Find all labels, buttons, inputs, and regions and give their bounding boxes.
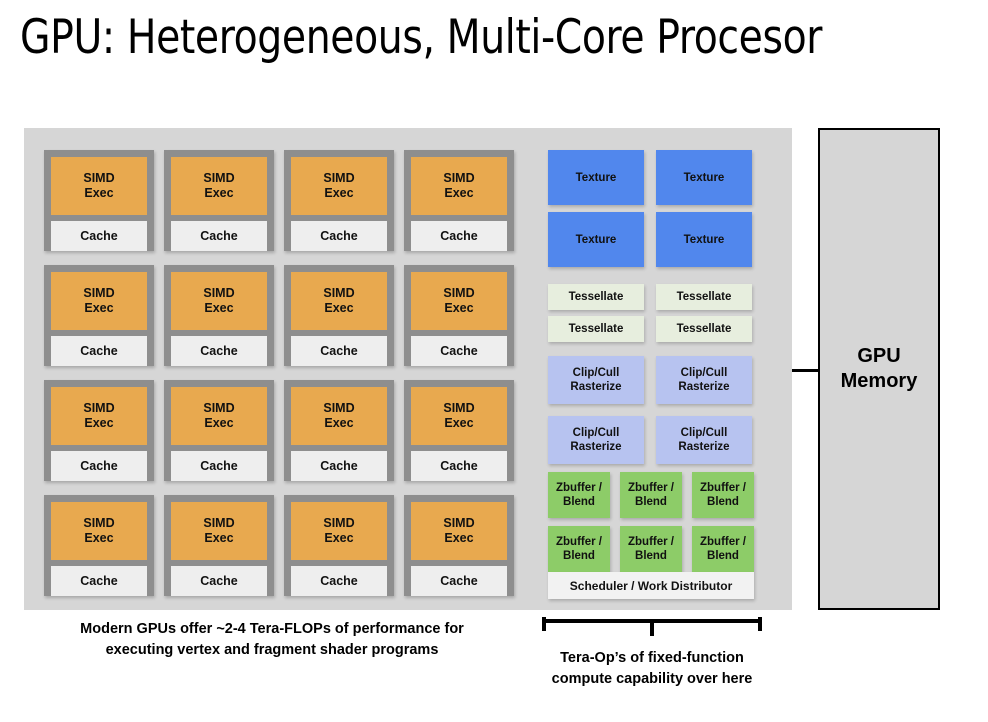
cache-unit: Cache xyxy=(411,221,507,251)
simd-core: SIMDExecCache xyxy=(44,495,154,596)
tessellate-unit-label-line1: Tessellate xyxy=(677,290,732,304)
cache-unit: Cache xyxy=(51,336,147,366)
zbuffer-blend-unit-label-line2: Blend xyxy=(707,549,739,563)
clip-cull-rasterize-unit-label-line2: Rasterize xyxy=(570,440,621,454)
simd-exec-unit: SIMDExec xyxy=(171,502,267,560)
simd-core: SIMDExecCache xyxy=(164,380,274,481)
simd-core: SIMDExecCache xyxy=(404,495,514,596)
texture-unit: Texture xyxy=(548,212,644,267)
simd-core: SIMDExecCache xyxy=(44,380,154,481)
texture-unit-label-line1: Texture xyxy=(684,233,725,247)
simd-core: SIMDExecCache xyxy=(44,265,154,366)
tessellate-unit: Tessellate xyxy=(656,284,752,310)
simd-exec-unit: SIMDExec xyxy=(171,157,267,215)
simd-exec-label-line1: SIMD xyxy=(83,401,114,416)
simd-exec-label-line1: SIMD xyxy=(203,516,234,531)
zbuffer-blend-unit: Zbuffer /Blend xyxy=(620,472,682,518)
tessellate-unit-label-line1: Tessellate xyxy=(569,322,624,336)
caption-left-line1: Modern GPUs offer ~2-4 Tera-FLOPs of per… xyxy=(24,619,520,640)
cache-unit: Cache xyxy=(171,451,267,481)
zbuffer-blend-unit: Zbuffer /Blend xyxy=(548,526,610,572)
simd-exec-label-line2: Exec xyxy=(204,531,233,546)
zbuffer-blend-unit-label-line1: Zbuffer / xyxy=(628,481,674,495)
caption-right-line1: Tera-Op’s of fixed-function xyxy=(520,648,784,669)
simd-exec-label-line2: Exec xyxy=(84,186,113,201)
simd-exec-label-line1: SIMD xyxy=(83,286,114,301)
bracket-center-stem xyxy=(650,622,654,636)
caption-right-line2: compute capability over here xyxy=(520,669,784,690)
texture-unit-label-line1: Texture xyxy=(576,171,617,185)
simd-exec-label-line2: Exec xyxy=(204,416,233,431)
simd-exec-label-line2: Exec xyxy=(444,186,473,201)
simd-core: SIMDExecCache xyxy=(284,150,394,251)
simd-exec-unit: SIMDExec xyxy=(171,272,267,330)
simd-core: SIMDExecCache xyxy=(284,495,394,596)
gpu-memory-label-line1: GPU xyxy=(857,344,900,369)
zbuffer-blend-unit-label-line1: Zbuffer / xyxy=(556,535,602,549)
zbuffer-blend-unit-label-line2: Blend xyxy=(635,549,667,563)
simd-exec-unit: SIMDExec xyxy=(171,387,267,445)
simd-exec-label-line2: Exec xyxy=(324,416,353,431)
simd-exec-label-line2: Exec xyxy=(324,301,353,316)
simd-exec-label-line2: Exec xyxy=(84,531,113,546)
cache-unit: Cache xyxy=(51,566,147,596)
zbuffer-blend-unit-label-line2: Blend xyxy=(563,549,595,563)
clip-cull-rasterize-unit: Clip/CullRasterize xyxy=(548,416,644,464)
caption-shader-performance: Modern GPUs offer ~2-4 Tera-FLOPs of per… xyxy=(24,619,520,661)
simd-exec-label-line2: Exec xyxy=(444,416,473,431)
simd-core: SIMDExecCache xyxy=(404,380,514,481)
simd-exec-label-line1: SIMD xyxy=(323,516,354,531)
simd-exec-label-line1: SIMD xyxy=(323,286,354,301)
simd-exec-label-line1: SIMD xyxy=(203,401,234,416)
simd-exec-unit: SIMDExec xyxy=(411,387,507,445)
simd-core: SIMDExecCache xyxy=(164,265,274,366)
clip-cull-rasterize-unit: Clip/CullRasterize xyxy=(548,356,644,404)
texture-unit-label-line1: Texture xyxy=(576,233,617,247)
simd-exec-label-line2: Exec xyxy=(84,416,113,431)
simd-core: SIMDExecCache xyxy=(164,495,274,596)
simd-exec-unit: SIMDExec xyxy=(51,272,147,330)
clip-cull-rasterize-unit-label-line1: Clip/Cull xyxy=(573,426,620,440)
zbuffer-blend-unit: Zbuffer /Blend xyxy=(548,472,610,518)
zbuffer-blend-unit: Zbuffer /Blend xyxy=(692,526,754,572)
simd-exec-unit: SIMDExec xyxy=(51,502,147,560)
zbuffer-blend-unit-label-line2: Blend xyxy=(635,495,667,509)
caption-fixed-function: Tera-Op’s of fixed-function compute capa… xyxy=(520,648,784,690)
texture-unit-label-line1: Texture xyxy=(684,171,725,185)
simd-exec-label-line2: Exec xyxy=(204,301,233,316)
gpu-chip-panel: SIMDExecCacheSIMDExecCacheSIMDExecCacheS… xyxy=(24,128,792,610)
zbuffer-blend-unit: Zbuffer /Blend xyxy=(620,526,682,572)
simd-exec-label-line1: SIMD xyxy=(203,171,234,186)
simd-exec-label-line2: Exec xyxy=(444,301,473,316)
cache-unit: Cache xyxy=(51,221,147,251)
simd-exec-label-line1: SIMD xyxy=(323,171,354,186)
clip-cull-rasterize-unit: Clip/CullRasterize xyxy=(656,356,752,404)
fixed-function-bracket xyxy=(540,614,764,636)
simd-exec-unit: SIMDExec xyxy=(411,157,507,215)
cache-unit: Cache xyxy=(411,451,507,481)
tessellate-unit-label-line1: Tessellate xyxy=(677,322,732,336)
simd-exec-unit: SIMDExec xyxy=(411,502,507,560)
simd-core: SIMDExecCache xyxy=(44,150,154,251)
simd-exec-label-line2: Exec xyxy=(444,531,473,546)
cache-unit: Cache xyxy=(51,451,147,481)
tessellate-unit: Tessellate xyxy=(548,284,644,310)
clip-cull-rasterize-unit-label-line2: Rasterize xyxy=(678,440,729,454)
caption-left-line2: executing vertex and fragment shader pro… xyxy=(24,640,520,661)
simd-core: SIMDExecCache xyxy=(404,150,514,251)
simd-exec-label-line2: Exec xyxy=(324,186,353,201)
simd-exec-unit: SIMDExec xyxy=(411,272,507,330)
simd-exec-label-line1: SIMD xyxy=(83,516,114,531)
simd-exec-label-line1: SIMD xyxy=(203,286,234,301)
simd-core: SIMDExecCache xyxy=(164,150,274,251)
clip-cull-rasterize-unit-label-line1: Clip/Cull xyxy=(681,366,728,380)
simd-exec-label-line1: SIMD xyxy=(83,171,114,186)
simd-exec-label-line1: SIMD xyxy=(443,171,474,186)
cache-unit: Cache xyxy=(411,336,507,366)
tessellate-unit: Tessellate xyxy=(656,316,752,342)
gpu-memory-block: GPU Memory xyxy=(818,128,940,610)
clip-cull-rasterize-unit: Clip/CullRasterize xyxy=(656,416,752,464)
simd-exec-label-line1: SIMD xyxy=(443,286,474,301)
page-title: GPU: Heterogeneous, Multi-Core Procesor xyxy=(20,10,902,65)
simd-exec-unit: SIMDExec xyxy=(291,272,387,330)
cache-unit: Cache xyxy=(291,336,387,366)
bracket-right-tick xyxy=(758,617,762,631)
scheduler-work-distributor-label-line1: Scheduler / Work Distributor xyxy=(570,579,732,593)
bracket-left-tick xyxy=(542,617,546,631)
zbuffer-blend-unit-label-line1: Zbuffer / xyxy=(628,535,674,549)
simd-core: SIMDExecCache xyxy=(284,380,394,481)
texture-unit: Texture xyxy=(656,212,752,267)
zbuffer-blend-unit-label-line2: Blend xyxy=(563,495,595,509)
cache-unit: Cache xyxy=(291,221,387,251)
zbuffer-blend-unit-label-line2: Blend xyxy=(707,495,739,509)
simd-exec-label-line1: SIMD xyxy=(323,401,354,416)
clip-cull-rasterize-unit-label-line1: Clip/Cull xyxy=(681,426,728,440)
zbuffer-blend-unit-label-line1: Zbuffer / xyxy=(700,535,746,549)
cache-unit: Cache xyxy=(291,566,387,596)
simd-exec-unit: SIMDExec xyxy=(291,502,387,560)
simd-exec-unit: SIMDExec xyxy=(51,157,147,215)
cache-unit: Cache xyxy=(291,451,387,481)
gpu-memory-label-line2: Memory xyxy=(841,369,918,394)
simd-core: SIMDExecCache xyxy=(284,265,394,366)
simd-exec-unit: SIMDExec xyxy=(51,387,147,445)
clip-cull-rasterize-unit-label-line1: Clip/Cull xyxy=(573,366,620,380)
simd-exec-label-line1: SIMD xyxy=(443,516,474,531)
zbuffer-blend-unit-label-line1: Zbuffer / xyxy=(556,481,602,495)
cache-unit: Cache xyxy=(171,221,267,251)
simd-exec-label-line2: Exec xyxy=(324,531,353,546)
simd-exec-label-line2: Exec xyxy=(84,301,113,316)
tessellate-unit-label-line1: Tessellate xyxy=(569,290,624,304)
simd-exec-label-line1: SIMD xyxy=(443,401,474,416)
simd-core: SIMDExecCache xyxy=(404,265,514,366)
simd-exec-label-line2: Exec xyxy=(204,186,233,201)
simd-exec-unit: SIMDExec xyxy=(291,157,387,215)
cache-unit: Cache xyxy=(171,336,267,366)
simd-exec-unit: SIMDExec xyxy=(291,387,387,445)
clip-cull-rasterize-unit-label-line2: Rasterize xyxy=(678,380,729,394)
zbuffer-blend-unit: Zbuffer /Blend xyxy=(692,472,754,518)
texture-unit: Texture xyxy=(548,150,644,205)
cache-unit: Cache xyxy=(171,566,267,596)
tessellate-unit: Tessellate xyxy=(548,316,644,342)
scheduler-work-distributor: Scheduler / Work Distributor xyxy=(548,572,754,599)
texture-unit: Texture xyxy=(656,150,752,205)
zbuffer-blend-unit-label-line1: Zbuffer / xyxy=(700,481,746,495)
memory-bus-connector xyxy=(792,369,820,372)
clip-cull-rasterize-unit-label-line2: Rasterize xyxy=(570,380,621,394)
cache-unit: Cache xyxy=(411,566,507,596)
